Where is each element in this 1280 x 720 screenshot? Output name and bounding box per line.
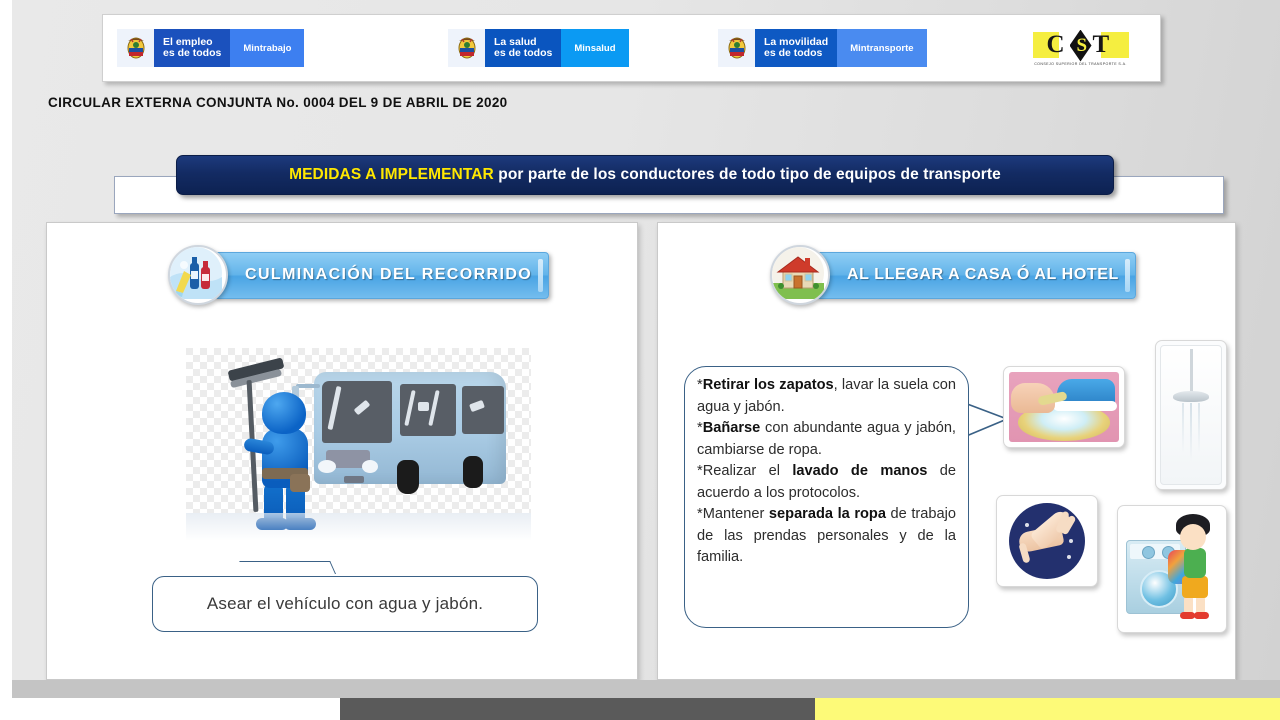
instruction-bold: separada la ropa	[769, 506, 886, 522]
logo-mintrabajo: El empleo es de todos Mintrabajo	[117, 29, 304, 67]
instruction-line-2: *Bañarse con abundante agua y jabón, cam…	[697, 418, 956, 461]
footer-bar-right	[815, 698, 1280, 720]
boy-head	[1180, 524, 1206, 550]
banner-highlight: MEDIDAS A IMPLEMENTAR	[289, 166, 494, 183]
instruction-line-1: *Retirar los zapatos, lavar la suela con…	[697, 375, 956, 418]
handwashing-icon	[996, 495, 1098, 587]
bus-headlight	[362, 460, 378, 473]
illustration-reflection	[186, 513, 531, 541]
slide-canvas: El empleo es de todos Mintrabajo La salu…	[0, 0, 1280, 698]
soap-bubble	[1025, 523, 1029, 527]
section-title-right: AL LLEGAR A CASA Ó AL HOTEL	[847, 266, 1119, 284]
instruction-bold: Retirar los zapatos	[703, 377, 834, 393]
section-header-culminacion: CULMINACIÓN DEL RECORRIDO	[168, 245, 549, 305]
shower-head-icon	[1173, 391, 1209, 402]
cst-letter-right: T	[1093, 31, 1110, 59]
callout-left: Asear el vehículo con agua y jabón.	[152, 576, 538, 632]
logo-minsalud: La salud es de todos Minsalud	[448, 29, 629, 67]
government-logo-band: El empleo es de todos Mintrabajo La salu…	[102, 14, 1161, 82]
section-ribbon: CULMINACIÓN DEL RECORRIDO	[214, 252, 549, 299]
callout-left-text: Asear el vehículo con agua y jabón.	[207, 594, 483, 614]
colombia-coat-of-arms-icon	[448, 29, 485, 67]
cst-letter-left: C	[1047, 31, 1065, 59]
bus-wheel	[463, 456, 483, 488]
cst-mark-icon: C T S	[1031, 31, 1131, 61]
water-spray	[1190, 403, 1192, 461]
washing-machine-knob	[1142, 546, 1155, 559]
instruction-pre: Realizar el	[703, 463, 793, 479]
washing-shoes-photo	[1003, 366, 1125, 448]
instruction-line-4: *Mantener separada la ropa de trabajo de…	[697, 504, 956, 569]
cleaning-supplies-icon	[168, 245, 228, 305]
instruction-bold: Bañarse	[703, 420, 761, 436]
banner-text: MEDIDAS A IMPLEMENTAR por parte de los c…	[289, 166, 1001, 184]
colombia-coat-of-arms-icon	[117, 29, 154, 67]
window-glint	[418, 402, 429, 411]
logo-ministry-name: Minsalud	[561, 29, 628, 67]
circular-reference-title: CIRCULAR EXTERNA CONJUNTA No. 0004 DEL 9…	[48, 95, 508, 110]
soap-bubble	[1069, 539, 1073, 543]
banner-rest: por parte de los conductores de todo tip…	[494, 166, 1001, 183]
colombia-coat-of-arms-icon	[718, 29, 755, 67]
bus-step	[344, 476, 364, 483]
boy-shoe	[1194, 612, 1209, 619]
section-ribbon: AL LLEGAR A CASA Ó AL HOTEL	[816, 252, 1136, 299]
worker-cleaning-bus-illustration	[186, 348, 531, 513]
sneaker-sole-shape	[1053, 401, 1117, 411]
logo-tagline: El empleo es de todos	[154, 29, 230, 67]
left-margin-strip	[0, 0, 12, 698]
boy-with-laundry-photo	[1117, 505, 1227, 633]
soap-bubble	[1067, 555, 1071, 559]
bus-wheel	[397, 460, 419, 494]
logo-ministry-name: Mintransporte	[837, 29, 926, 67]
bus-mirror-arm	[296, 384, 320, 388]
logo-tagline-line2: es de todos	[764, 48, 828, 60]
logo-ministry-name: Mintrabajo	[230, 29, 304, 67]
shower-photo	[1155, 340, 1227, 490]
logo-tagline-line2: es de todos	[494, 48, 552, 60]
worker-tool-pouch	[290, 474, 310, 492]
section-title-left: CULMINACIÓN DEL RECORRIDO	[245, 266, 532, 284]
bus-window-shape	[462, 386, 504, 434]
logo-mintransporte: La movilidad es de todos Mintransporte	[718, 29, 927, 67]
logo-cst: C T S CONSEJO SUPERIOR DEL TRANSPORTE S.…	[1028, 26, 1133, 70]
instruction-line-3: *Realizar el lavado de manos de acuerdo …	[697, 461, 956, 504]
callout-right: *Retirar los zapatos, lavar la suela con…	[684, 366, 969, 628]
instruction-pre: Mantener	[703, 506, 769, 522]
bus-headlight	[318, 460, 336, 473]
footer-bar-left	[0, 698, 340, 720]
logo-tagline-line2: es de todos	[163, 48, 221, 60]
section-header-llegar-casa: AL LLEGAR A CASA Ó AL HOTEL	[770, 245, 1136, 305]
instruction-bold: lavado de manos	[792, 463, 927, 479]
slide-bottom-gray-strip	[12, 680, 1280, 698]
shower-pipe	[1190, 349, 1193, 395]
boy-shorts	[1182, 576, 1208, 598]
water-spray	[1182, 403, 1184, 453]
water-spray	[1198, 403, 1200, 453]
cst-center-glyph: S	[1077, 36, 1085, 56]
cst-caption: CONSEJO SUPERIOR DEL TRANSPORTE S.A.	[1034, 62, 1127, 66]
boy-shirt	[1184, 548, 1206, 578]
house-icon	[770, 245, 830, 305]
logo-tagline: La movilidad es de todos	[755, 29, 837, 67]
measures-banner: MEDIDAS A IMPLEMENTAR por parte de los c…	[176, 155, 1114, 195]
logo-tagline: La salud es de todos	[485, 29, 561, 67]
boy-shoe	[1180, 612, 1195, 619]
footer-bar-mid	[340, 698, 815, 720]
worker-head	[262, 392, 306, 434]
